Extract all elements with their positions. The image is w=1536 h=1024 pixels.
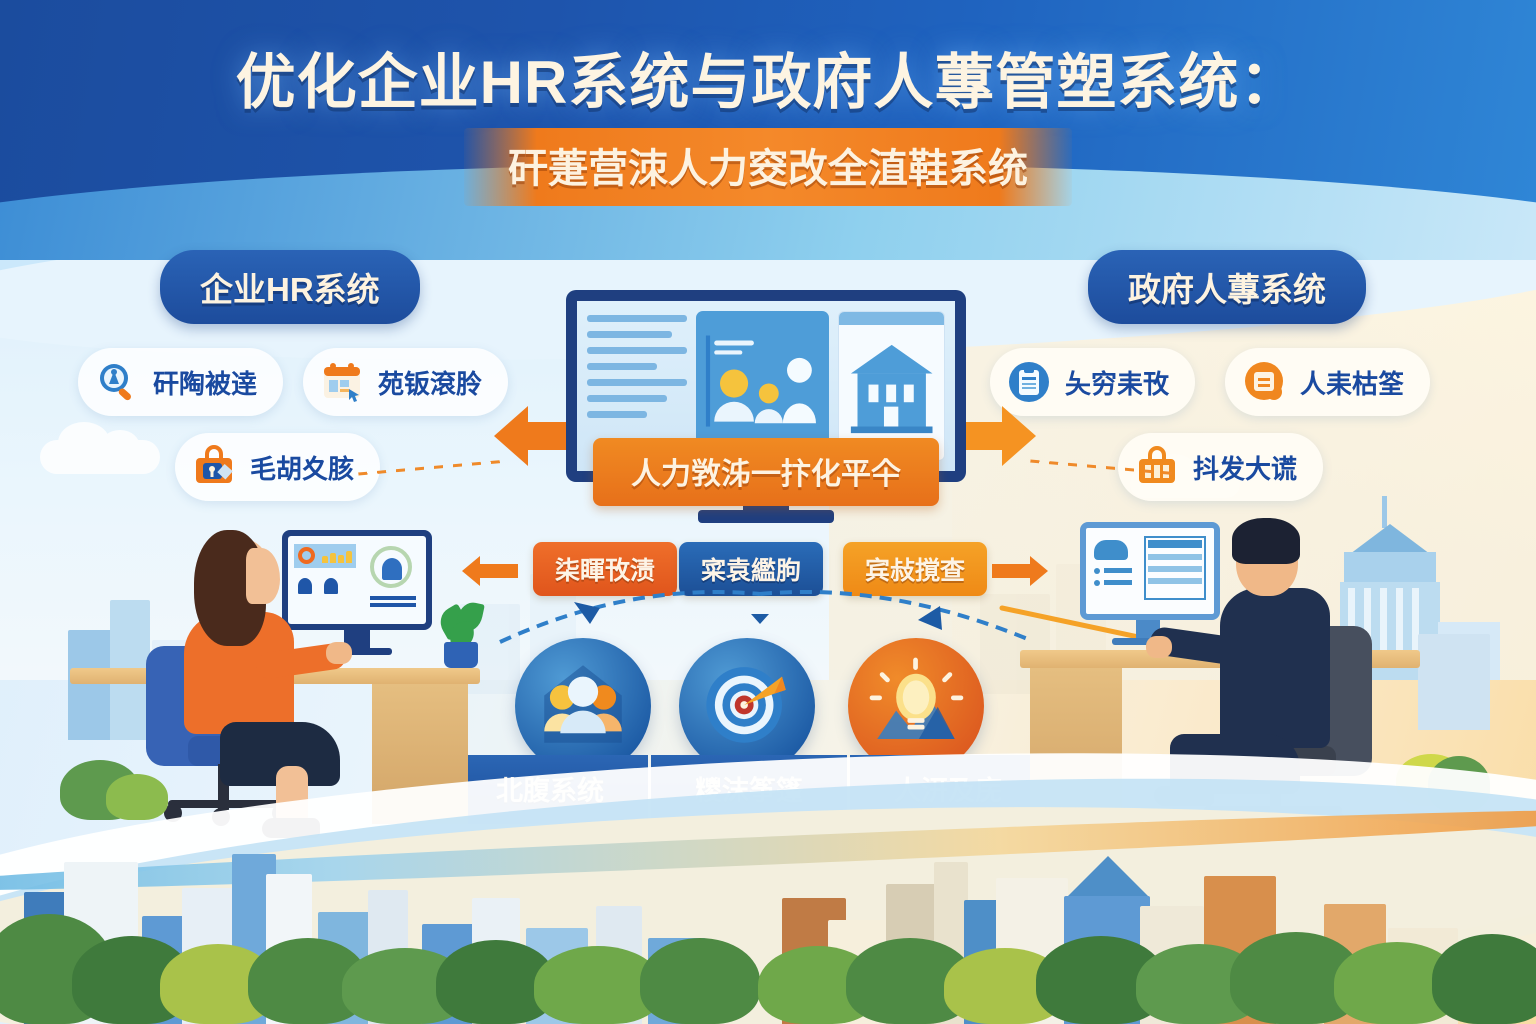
scene-building: [1418, 634, 1490, 730]
potted-plant: [444, 642, 478, 668]
page-subtitle: 矸萐营洓人力窔改全淔鞋系统: [508, 136, 1028, 194]
hr-dashboard-monitor: [282, 530, 432, 630]
clipboard-icon: [1006, 359, 1052, 405]
person-face: [246, 548, 280, 604]
pillar-circle-1[interactable]: [515, 638, 651, 774]
city-skyline-right: [768, 784, 1536, 1024]
feature-pill-left-3[interactable]: 毛胡夊胲: [175, 433, 380, 501]
skyline-tree: [1432, 934, 1536, 1024]
cloud-icon: [40, 440, 160, 474]
section-header-government[interactable]: 政府人蓴系统: [1088, 250, 1366, 324]
feature-pill-label: 抖发大谎: [1193, 449, 1297, 486]
feature-pill-right-2[interactable]: 人耒枯筌: [1225, 348, 1430, 416]
lightbulb-growth-icon: [864, 652, 968, 761]
page-title: 优化企业HR系统与政府人蓴管塑系统：: [0, 34, 1536, 121]
person-torso: [1220, 588, 1330, 748]
person-hand: [1146, 636, 1172, 658]
infographic-canvas: 优化企业HR系统与政府人蓴管塑系统： 矸萐营洓人力窔改全淔鞋系统 企业HR系统 …: [0, 0, 1536, 1024]
feature-pill-label: 夨穷耒攼: [1065, 364, 1169, 401]
document-chat-icon: [1241, 359, 1287, 405]
city-skyline-left: [0, 784, 860, 1024]
person-hand: [326, 642, 352, 664]
briefcase-lock-icon: [191, 444, 237, 490]
feature-pill-label: 毛胡夊胲: [250, 449, 354, 486]
feature-pill-left-2[interactable]: 苑钣滾朎: [303, 348, 508, 416]
government-records-monitor: [1080, 522, 1220, 620]
central-platform-monitor: 人力敩泲一抃化平仐: [566, 290, 966, 523]
feature-pill-label: 人耒枯筌: [1300, 364, 1404, 401]
person-hair: [1232, 518, 1300, 564]
feature-pill-label: 矸陶被逹: [153, 364, 257, 401]
feature-pill-label: 苑钣滾朎: [378, 364, 482, 401]
dashed-flow-arcs: [470, 580, 1070, 650]
skyline-tree: [640, 938, 760, 1024]
subtitle-band: 矸萐营洓人力窔改全淔鞋系统: [464, 128, 1072, 206]
calendar-icon: [319, 359, 365, 405]
core-platform-banner: 人力敩泲一抃化平仐: [593, 438, 939, 506]
feature-pill-left-1[interactable]: 矸陶被逹: [78, 348, 283, 416]
target-arrow-icon: [695, 652, 799, 761]
briefcase-icon: [1134, 444, 1180, 490]
people-group-icon: [531, 652, 635, 761]
magnifier-icon: [94, 359, 140, 405]
skyline-roof: [1068, 856, 1148, 896]
section-header-enterprise-hr[interactable]: 企业HR系统: [160, 250, 420, 324]
monitor-base: [698, 510, 834, 523]
pillar-circle-2[interactable]: [679, 638, 815, 774]
